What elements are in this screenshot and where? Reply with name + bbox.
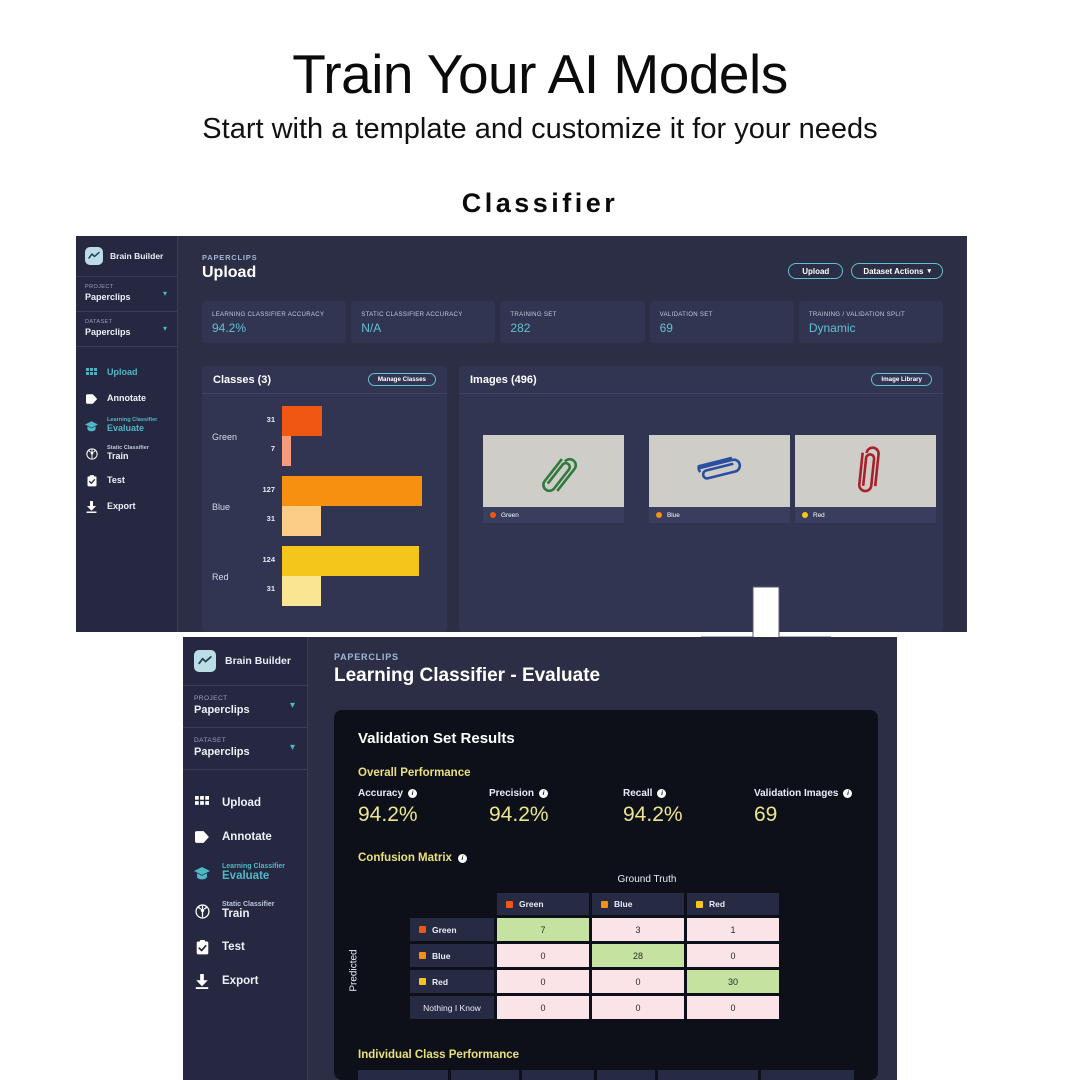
evaluate-content: PAPERCLIPS Learning Classifier - Evaluat… [308, 637, 897, 1080]
sidebar-item-test[interactable]: Test [76, 468, 177, 494]
validation-results-panel: Validation Set Results Overall Performan… [334, 710, 878, 1080]
matrix-col-label: Green [519, 899, 544, 909]
stat-cards: LEARNING CLASSIFIER ACCURACY 94.2% STATI… [202, 301, 943, 343]
image-thumb-card[interactable]: Blue [649, 435, 790, 523]
evaluate-nav: Upload Annotate Learning C [183, 786, 307, 998]
sidebar-item-label: Learning Classifier Evaluate [107, 418, 157, 434]
thumbnail-image [649, 435, 790, 507]
metric-value: 94.2% [623, 803, 683, 827]
bar-value: 7 [247, 444, 275, 453]
graduation-cap-icon [85, 421, 98, 432]
image-thumb-card[interactable]: Red [795, 435, 936, 523]
activity-chart-icon [194, 650, 216, 672]
stat-value: 282 [510, 321, 644, 335]
sidebar-item-export[interactable]: Export [76, 494, 177, 520]
class-swatch-icon [601, 901, 608, 908]
brand-name: Brain Builder [110, 251, 163, 261]
individual-class-table-header [358, 1070, 854, 1080]
matrix-cell: 1 [687, 918, 779, 941]
project-selector[interactable]: PROJECT Paperclips ▾ [183, 686, 307, 728]
matrix-cell: 3 [592, 918, 684, 941]
matrix-cell: 0 [687, 996, 779, 1019]
matrix-row-label: Red [432, 977, 448, 987]
class-dot-icon [802, 512, 808, 518]
images-panel-header: Images (496) Image Library [459, 366, 943, 394]
sidebar-item-export[interactable]: Export [183, 964, 307, 998]
classes-panel: Classes (3) Manage Classes Green 31 7 Bl… [202, 366, 447, 632]
upload-nav: Upload Annotate Learning C [76, 360, 177, 520]
individual-class-performance-heading: Individual Class Performance [358, 1049, 519, 1061]
metric-label: Validation Images [754, 788, 838, 799]
activity-chart-icon [85, 247, 103, 265]
table-row: Green 7 3 1 [410, 918, 779, 941]
metric-value: 94.2% [489, 803, 549, 827]
matrix-row-header: Red [410, 970, 494, 993]
sidebar-item-label: Static Classifier Train [107, 446, 149, 462]
sidebar-item-upload[interactable]: Upload [76, 360, 177, 386]
matrix-cell: 0 [497, 970, 589, 993]
metric: Recall i 94.2% [623, 788, 683, 827]
matrix-row-header: Green [410, 918, 494, 941]
table-header-cell [451, 1070, 519, 1080]
class-bar-training [282, 406, 322, 436]
stat-label: VALIDATION SET [660, 311, 794, 318]
bar-value: 124 [247, 555, 275, 564]
metric-label: Recall [623, 788, 652, 799]
sidebar-item-label: Annotate [222, 831, 272, 844]
matrix-row-header: Nothing I Know [410, 996, 494, 1019]
evaluate-window: Brain Builder PROJECT Paperclips ▾ DATAS… [183, 637, 897, 1080]
sidebar-item-train[interactable]: Static Classifier Train [76, 440, 177, 468]
dataset-selector[interactable]: DATASET Paperclips ▾ [76, 312, 177, 347]
chevron-down-icon[interactable]: ▾ [163, 289, 167, 298]
metric-value: 69 [754, 803, 852, 827]
image-thumb-card[interactable]: Green [483, 435, 624, 523]
stat-value: 94.2% [212, 321, 346, 335]
bar-value: 31 [247, 415, 275, 424]
matrix-cell: 7 [497, 918, 589, 941]
download-icon [85, 501, 98, 513]
stat-label: LEARNING CLASSIFIER ACCURACY [212, 311, 346, 318]
classes-panel-header: Classes (3) Manage Classes [202, 366, 447, 394]
class-bar-training [282, 476, 422, 506]
page-title: Train Your AI Models [0, 46, 1080, 104]
metric: Precision i 94.2% [489, 788, 549, 827]
table-header-cell [597, 1070, 655, 1080]
sidebar-item-evaluate[interactable]: Learning Classifier Evaluate [76, 412, 177, 440]
class-dot-icon [656, 512, 662, 518]
class-swatch-icon [419, 978, 426, 985]
graduation-cap-icon [194, 867, 210, 880]
metric-label: Precision [489, 788, 534, 799]
sidebar-item-evaluate[interactable]: Learning Classifier Evaluate [183, 854, 307, 892]
ground-truth-axis-label: Ground Truth [518, 874, 776, 885]
thumbnail-caption: Red [795, 507, 936, 523]
breadcrumb: PAPERCLIPS [202, 253, 257, 262]
stat-value: 69 [660, 321, 794, 335]
matrix-row-label: Green [432, 925, 457, 935]
brand-name: Brain Builder [225, 655, 291, 667]
sidebar-item-label: Learning Classifier Evaluate [222, 863, 285, 883]
metric: Accuracy i 94.2% [358, 788, 418, 827]
clipboard-check-icon [194, 940, 210, 955]
matrix-cell: 0 [497, 996, 589, 1019]
network-node-icon [85, 448, 98, 460]
thumbnail-label: Green [501, 512, 519, 519]
predicted-axis-label: Predicted [349, 934, 360, 1008]
chevron-down-icon[interactable]: ▾ [290, 742, 295, 753]
thumbnail-label: Blue [667, 512, 680, 519]
sidebar-item-label: Upload [222, 797, 261, 810]
results-title: Validation Set Results [358, 730, 515, 747]
sidebar-item-label: Annotate [107, 394, 146, 404]
class-label: Blue [212, 502, 230, 512]
classes-panel-title: Classes (3) [213, 374, 271, 386]
sidebar-item-label: Test [222, 941, 245, 954]
bar-value: 31 [247, 514, 275, 523]
upload-sidebar: Brain Builder PROJECT Paperclips ▾ DATAS… [76, 236, 178, 632]
sidebar-item-label: Export [222, 975, 258, 988]
table-header-cell [761, 1070, 854, 1080]
stat-label: TRAINING SET [510, 311, 644, 318]
info-icon[interactable]: i [408, 789, 417, 798]
download-icon [194, 974, 210, 989]
section-heading: Classifier [0, 188, 1080, 219]
clipboard-check-icon [85, 475, 98, 487]
class-swatch-icon [696, 901, 703, 908]
page-heading: Upload [202, 264, 257, 282]
matrix-col-header: Blue [592, 893, 684, 915]
class-bar-group-red: Red 124 31 [202, 546, 447, 612]
sidebar-item-upload[interactable]: Upload [183, 786, 307, 820]
grid-icon [194, 796, 210, 810]
class-bar-validation [282, 436, 291, 466]
matrix-row-header: Blue [410, 944, 494, 967]
classes-chart: Green 31 7 Blue 127 31 [202, 394, 447, 632]
table-row: Nothing I Know 0 0 0 [410, 996, 779, 1019]
class-swatch-icon [419, 952, 426, 959]
dataset-selector[interactable]: DATASET Paperclips ▾ [183, 728, 307, 770]
class-bar-validation [282, 506, 321, 536]
network-node-icon [194, 904, 210, 919]
sidebar-item-label: Static Classifier Train [222, 901, 275, 921]
metrics-row: Accuracy i 94.2% Precision i 94.2% [358, 788, 854, 843]
sidebar-item-label: Export [107, 502, 136, 512]
matrix-col-header: Green [497, 893, 589, 915]
table-header-cell [358, 1070, 448, 1080]
overall-performance-heading: Overall Performance [358, 767, 471, 779]
breadcrumb: PAPERCLIPS [334, 652, 600, 662]
tag-icon [85, 394, 98, 404]
class-bar-validation [282, 576, 321, 606]
sidebar-item-train[interactable]: Static Classifier Train [183, 892, 307, 930]
metric-value: 94.2% [358, 803, 418, 827]
stat-value: Dynamic [809, 321, 943, 335]
matrix-header-row: Green Blue Red [410, 893, 779, 915]
sidebar-item-annotate[interactable]: Annotate [76, 386, 177, 412]
table-header-cell [658, 1070, 758, 1080]
sidebar-item-label: Test [107, 476, 125, 486]
table-header-cell [522, 1070, 594, 1080]
metric: Validation Images i 69 [754, 788, 852, 827]
stat-card: STATIC CLASSIFIER ACCURACY N/A [351, 301, 495, 343]
thumbnail-image [795, 435, 936, 507]
evaluate-sidebar: Brain Builder PROJECT Paperclips ▾ DATAS… [183, 637, 308, 1080]
thumbnail-image [483, 435, 624, 507]
images-panel-title: Images (496) [470, 374, 537, 386]
class-bar-group-green: Green 31 7 [202, 406, 447, 472]
page-subtitle: Start with a template and customize it f… [0, 113, 1080, 146]
brand[interactable]: Brain Builder [183, 637, 307, 686]
stat-card: TRAINING SET 282 [500, 301, 644, 343]
class-label: Green [212, 432, 237, 442]
matrix-cell: 0 [687, 944, 779, 967]
dataset-actions-button[interactable]: Dataset Actions ▾ [851, 263, 943, 279]
chevron-down-icon[interactable]: ▾ [163, 324, 167, 333]
info-icon[interactable]: i [458, 854, 467, 863]
upload-window: Brain Builder PROJECT Paperclips ▾ DATAS… [76, 236, 967, 632]
class-bar-training [282, 546, 419, 576]
matrix-row-label: Blue [432, 951, 450, 961]
class-label: Red [212, 572, 229, 582]
stat-label: STATIC CLASSIFIER ACCURACY [361, 311, 495, 318]
bar-value: 31 [247, 584, 275, 593]
stat-card: VALIDATION SET 69 [650, 301, 794, 343]
class-dot-icon [490, 512, 496, 518]
class-swatch-icon [419, 926, 426, 933]
metric-label: Accuracy [358, 788, 403, 799]
sidebar-item-annotate[interactable]: Annotate [183, 820, 307, 854]
caret-down-icon: ▾ [927, 267, 931, 275]
chevron-down-icon[interactable]: ▾ [290, 700, 295, 711]
confusion-matrix-table: Green Blue Red [407, 890, 782, 1022]
matrix-cell: 0 [592, 970, 684, 993]
matrix-col-header: Red [687, 893, 779, 915]
stat-label: TRAINING / VALIDATION SPLIT [809, 311, 943, 318]
thumbnail-caption: Blue [649, 507, 790, 523]
thumbnail-label: Red [813, 512, 825, 519]
project-selector[interactable]: PROJECT Paperclips ▾ [76, 277, 177, 312]
matrix-cell: 28 [592, 944, 684, 967]
dataset-actions-label: Dataset Actions [863, 267, 923, 276]
matrix-col-label: Blue [614, 899, 632, 909]
upload-button[interactable]: Upload [788, 263, 843, 279]
image-library-button[interactable]: Image Library [871, 373, 932, 386]
manage-classes-button[interactable]: Manage Classes [368, 373, 436, 386]
stat-value: N/A [361, 321, 495, 335]
sidebar-item-label: Upload [107, 368, 138, 378]
info-icon[interactable]: i [539, 789, 548, 798]
bar-value: 127 [247, 485, 275, 494]
class-swatch-icon [506, 901, 513, 908]
grid-icon [85, 368, 98, 379]
page-heading: Learning Classifier - Evaluate [334, 665, 600, 687]
poster-root: Train Your AI Models Start with a templa… [0, 0, 1080, 1080]
table-row: Blue 0 28 0 [410, 944, 779, 967]
confusion-matrix-label: Confusion Matrix [358, 852, 452, 864]
matrix-corner [410, 893, 494, 915]
table-row: Red 0 0 30 [410, 970, 779, 993]
stat-card: LEARNING CLASSIFIER ACCURACY 94.2% [202, 301, 346, 343]
matrix-cell: 0 [497, 944, 589, 967]
brand[interactable]: Brain Builder [76, 236, 177, 277]
matrix-cell: 0 [592, 996, 684, 1019]
stat-card: TRAINING / VALIDATION SPLIT Dynamic [799, 301, 943, 343]
tag-icon [194, 831, 210, 843]
confusion-matrix-heading: Confusion Matrix i [358, 852, 467, 864]
sidebar-item-test[interactable]: Test [183, 930, 307, 964]
upload-content: PAPERCLIPS Upload Upload Dataset Actions… [178, 236, 967, 632]
matrix-col-label: Red [709, 899, 725, 909]
info-icon[interactable]: i [843, 789, 852, 798]
class-bar-group-blue: Blue 127 31 [202, 476, 447, 542]
thumbnail-caption: Green [483, 507, 624, 523]
matrix-cell: 30 [687, 970, 779, 993]
info-icon[interactable]: i [657, 789, 666, 798]
